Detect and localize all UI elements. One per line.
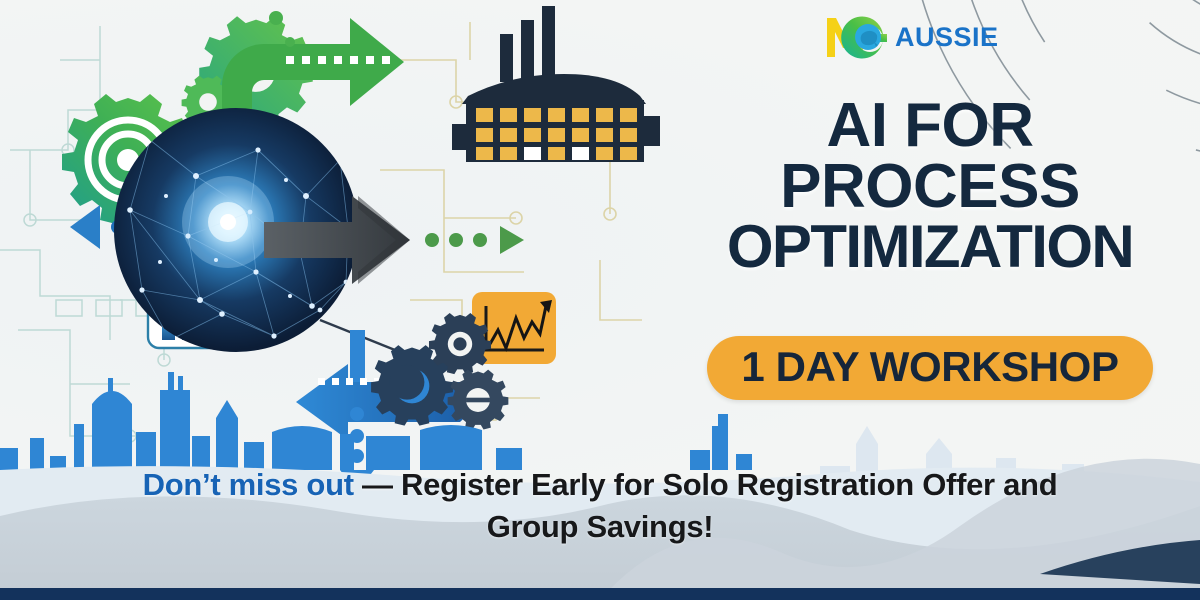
- footer-bar: [0, 588, 1200, 600]
- promo-caption: Don’t miss out — Register Early for Solo…: [0, 464, 1200, 548]
- headline-block: AI FOR PROCESS OPTIMIZATION: [660, 96, 1200, 276]
- headline-line-2: PROCESS: [660, 157, 1200, 218]
- workshop-badge-wrap: 1 DAY WORKSHOP: [660, 336, 1200, 400]
- headline-line-3: OPTIMIZATION: [660, 218, 1200, 277]
- headline-line-1: AI FOR: [660, 96, 1200, 157]
- caption-highlight: Don’t miss out: [143, 467, 354, 502]
- workshop-badge[interactable]: 1 DAY WORKSHOP: [707, 336, 1152, 400]
- skyline-blue: [0, 372, 752, 470]
- caption-rest: — Register Early for Solo Registration O…: [354, 467, 1058, 544]
- factory-icon: [452, 6, 660, 162]
- green-dots-and-triangle: [425, 226, 524, 254]
- logo-wordmark: AUSSIE: [895, 24, 999, 51]
- brand-logo[interactable]: AUSSIE: [824, 14, 999, 60]
- mg-aussie-logo-mark: [824, 14, 888, 60]
- event-banner: AUSSIE AI FOR PROCESS OPTIMIZATION 1 DAY…: [0, 0, 1200, 600]
